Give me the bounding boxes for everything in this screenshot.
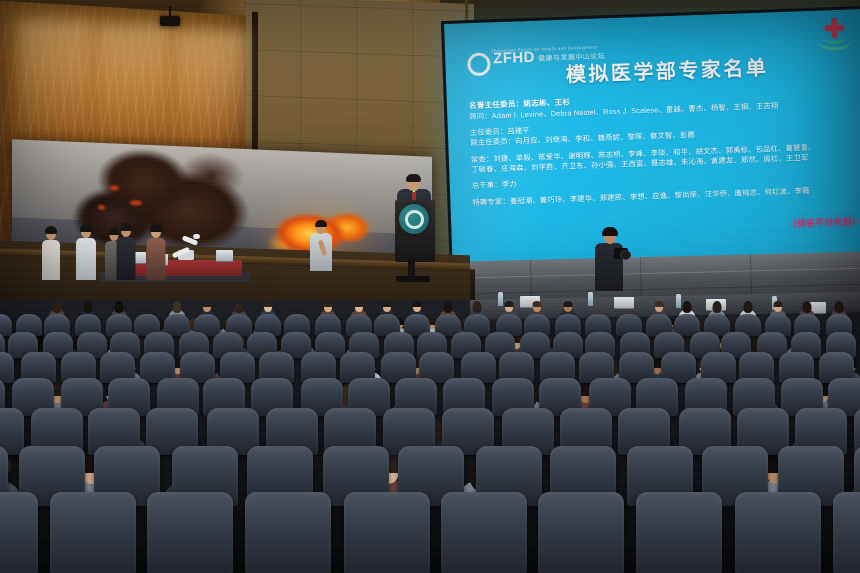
hair: [323, 301, 332, 307]
ember: [98, 205, 105, 210]
auditorium-seat: [636, 492, 722, 573]
laptop-icon: [614, 297, 634, 308]
ember: [110, 185, 119, 190]
conference-photo: ZFHD 健康与发展中山论坛 Zhongshan Forum for Healt…: [0, 0, 860, 573]
auditorium-seat: [147, 492, 233, 573]
auditorium-seat: [441, 492, 527, 573]
hair: [84, 301, 93, 313]
standing-person: [146, 226, 165, 280]
auditorium-seat: [245, 492, 331, 573]
panel-seam: [440, 268, 860, 279]
hair: [382, 301, 391, 307]
hair: [444, 301, 453, 313]
body: [116, 237, 135, 280]
hair: [835, 301, 844, 313]
ring-o-icon: [405, 210, 424, 229]
hair: [655, 301, 664, 307]
hair: [173, 301, 182, 313]
projection-screen: ZFHD 健康与发展中山论坛 Zhongshan Forum for Healt…: [444, 9, 860, 276]
standing-person: [42, 228, 60, 280]
photographer-hair: [602, 227, 618, 236]
podium-emblem: [399, 204, 429, 234]
robot-gripper: [193, 234, 200, 239]
robot-segment: [172, 247, 190, 259]
water-bottle: [588, 292, 593, 306]
screen-bezel: [441, 6, 860, 285]
auditorium-seat: [344, 492, 430, 573]
hair: [683, 301, 692, 313]
hair: [45, 226, 57, 234]
hair: [743, 301, 752, 313]
auditorium-seat: [735, 492, 821, 573]
hair: [52, 301, 61, 313]
robot-arm-icon: [168, 232, 200, 258]
hair: [774, 301, 783, 307]
hair: [473, 301, 482, 313]
auditorium-seat: [0, 352, 14, 383]
ceiling-projector-icon: [160, 16, 180, 26]
standing-person: [116, 225, 135, 280]
speaker-hair: [406, 174, 421, 182]
laptop-icon: [216, 250, 233, 261]
auditorium-seat: [50, 492, 136, 573]
auditorium-seat: [0, 492, 38, 573]
hair: [504, 301, 513, 307]
hair: [564, 301, 573, 307]
hair: [412, 301, 421, 307]
auditorium-seat: [833, 492, 860, 573]
hair: [533, 301, 542, 307]
body: [146, 238, 165, 280]
camera-lens-icon: [620, 250, 631, 260]
hair: [802, 301, 811, 313]
hair: [713, 301, 722, 313]
hair: [354, 301, 363, 307]
auditorium-seat: [538, 492, 624, 573]
wall-spotlight: [18, 20, 92, 140]
wall-spotlight: [96, 24, 170, 144]
hair: [263, 301, 272, 307]
podium-base: [396, 276, 430, 282]
body: [42, 240, 60, 280]
wall-spotlight: [174, 30, 248, 150]
ember: [130, 200, 142, 206]
body: [76, 238, 96, 280]
standing-person: [76, 226, 96, 280]
hair: [202, 301, 211, 307]
presenter-hair: [315, 220, 327, 227]
hair: [120, 223, 132, 231]
hair: [150, 224, 162, 232]
hair: [114, 301, 123, 313]
hair: [80, 224, 92, 232]
hair: [234, 301, 243, 313]
